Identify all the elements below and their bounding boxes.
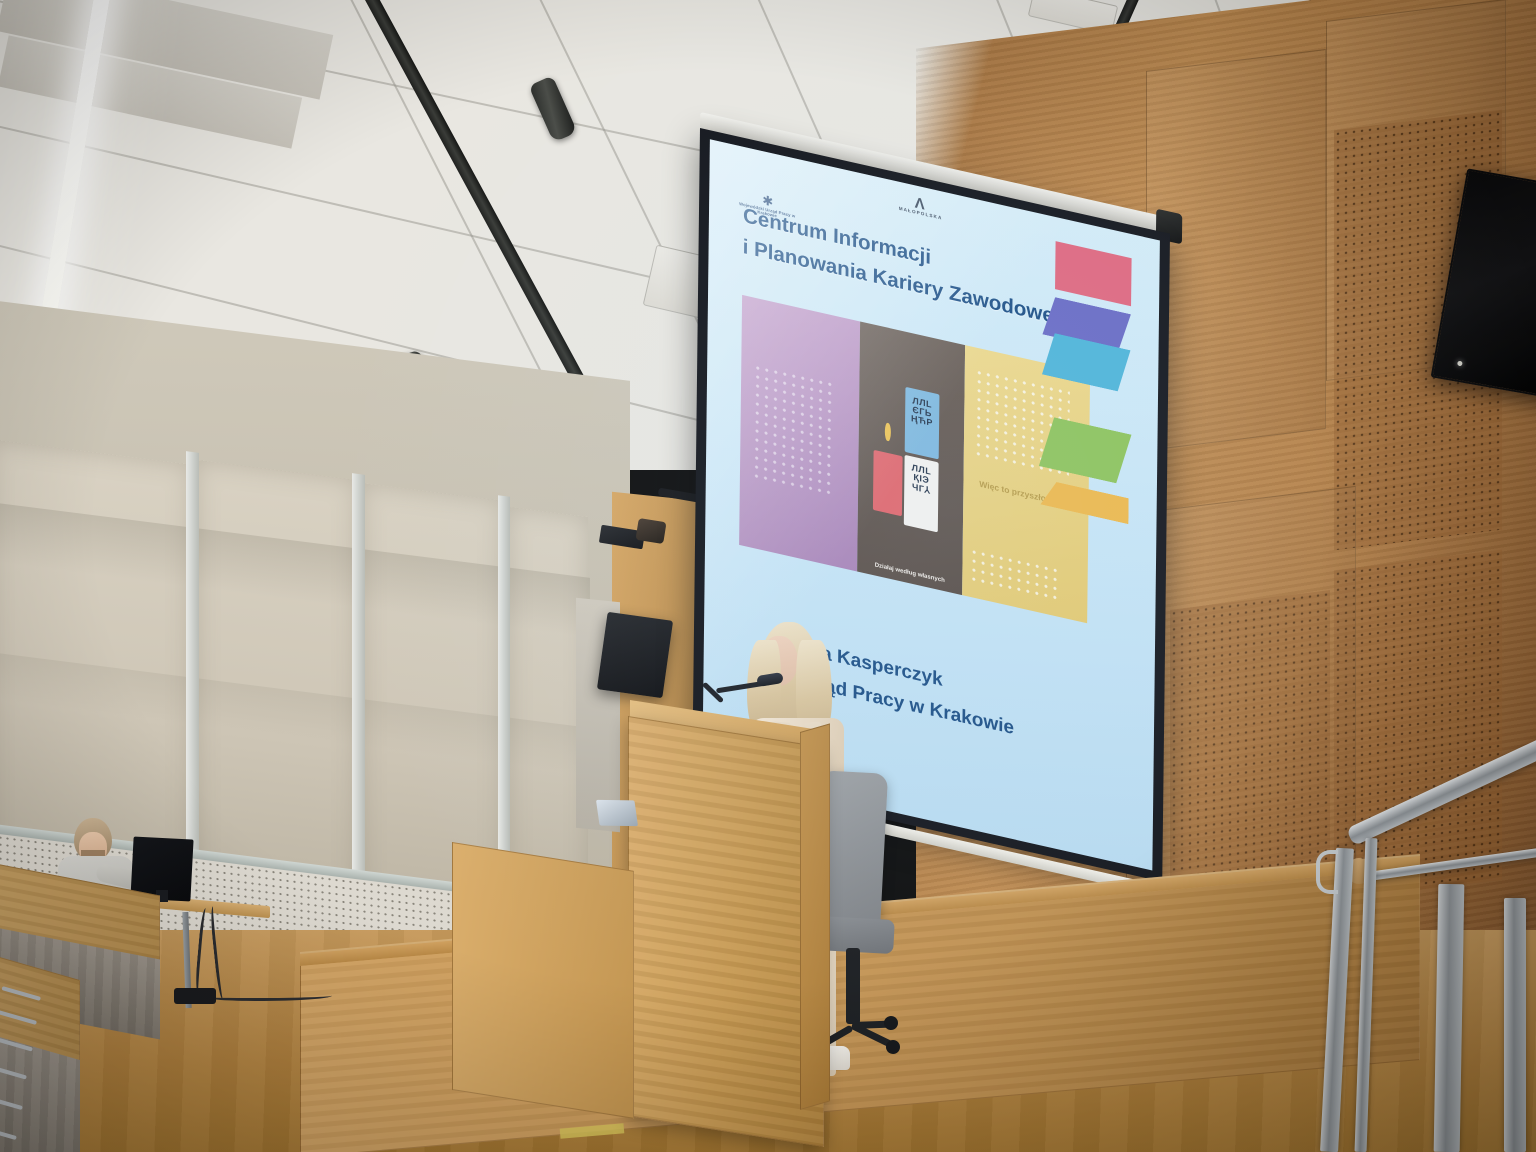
purple-panel-caption	[739, 538, 857, 565]
chair-caster	[886, 1040, 900, 1054]
band-green	[1039, 414, 1132, 487]
dark-panel-caption: Działaj według własnych	[858, 559, 962, 588]
malopolska-logo: Λ MAŁOPOLSKA	[886, 191, 956, 224]
stage-front-wall	[452, 842, 634, 1119]
auditorium-photo-scene: ✱ Wojewódzki Urząd Pracy w Krakowie Λ MA…	[0, 0, 1536, 1152]
window-mullion-1	[186, 451, 199, 905]
wood-perforation-b	[1334, 550, 1502, 901]
railing-hook	[1316, 850, 1338, 894]
lectern-tablet	[596, 800, 638, 826]
lectern-side-panel	[800, 723, 830, 1110]
railing-post-3	[1434, 884, 1465, 1152]
wall-loudspeaker	[597, 612, 673, 698]
floor-equipment	[174, 988, 216, 1004]
window-mullion-2	[352, 473, 365, 917]
chair-caster-2	[884, 1016, 898, 1030]
camera-mount-icon	[635, 518, 666, 544]
band-pink	[1055, 241, 1132, 306]
dark-panel: ЛЛLЄГЬҢЋР ЛЛLҚӀЭЧГ⅄ Działaj według własn…	[857, 322, 964, 595]
slide-image-panels: ЛЛLЄГЬҢЋР ЛЛLҚӀЭЧГ⅄ Działaj według własn…	[739, 295, 1090, 623]
railing-post-4	[1504, 898, 1526, 1152]
band-amber	[1040, 478, 1128, 524]
purple-panel	[739, 295, 860, 572]
chair-column	[846, 948, 860, 1024]
accent-bands	[1042, 239, 1142, 561]
slide-presenter-block: ...ja Kasperczyk ...ząd Pracy w Krakowie	[799, 633, 1130, 772]
lectern-front-panel	[628, 716, 824, 1147]
